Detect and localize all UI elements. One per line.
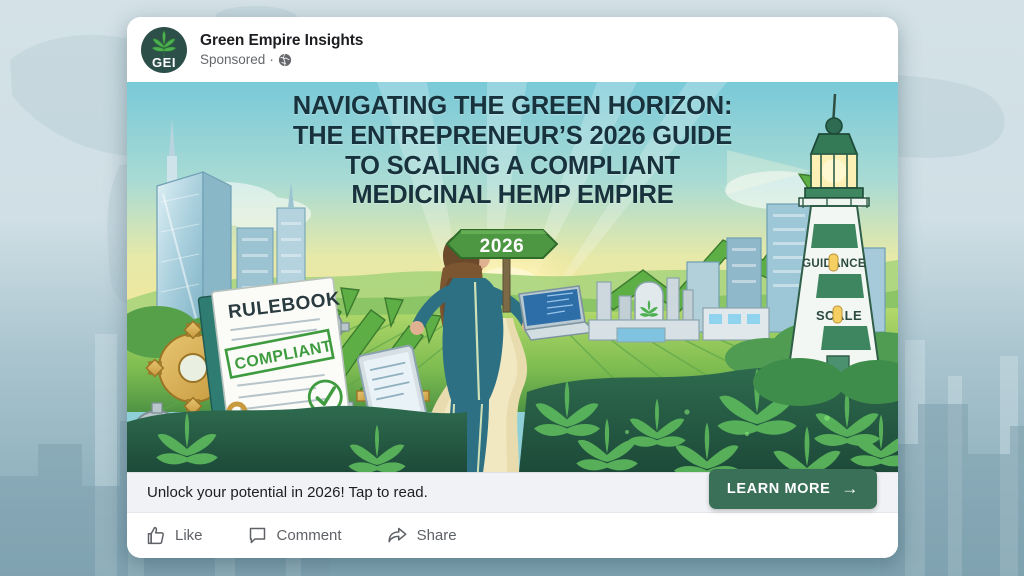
- cta-label: LEARN MORE: [727, 481, 830, 497]
- ad-headline: NAVIGATING THE GREEN HORIZON: THE ENTREP…: [127, 92, 898, 211]
- comment-label: Comment: [277, 527, 342, 544]
- speech-bubble-icon: [247, 525, 268, 546]
- sponsored-ad-card: GEI Green Empire Insights Sponsored ·: [127, 17, 898, 558]
- avatar[interactable]: GEI: [141, 27, 187, 73]
- header-text-block: Green Empire Insights Sponsored ·: [200, 32, 363, 67]
- headline-line-3: TO SCALING A COMPLIANT: [127, 152, 898, 182]
- headline-line-2: THE ENTREPRENEUR’S 2026 GUIDE: [127, 122, 898, 152]
- avatar-initials: GEI: [141, 56, 187, 69]
- comment-button[interactable]: Comment: [247, 525, 342, 546]
- sponsored-label[interactable]: Sponsored: [200, 52, 265, 67]
- sponsored-row: Sponsored ·: [200, 52, 363, 67]
- like-label: Like: [175, 527, 203, 544]
- caption-text: Unlock your potential in 2026! Tap to re…: [147, 484, 428, 501]
- svg-text:2026: 2026: [480, 236, 525, 257]
- like-button[interactable]: Like: [145, 525, 203, 546]
- share-label: Share: [417, 527, 457, 544]
- share-arrow-icon: [386, 525, 408, 546]
- globe-icon: [278, 53, 292, 67]
- headline-line-1: NAVIGATING THE GREEN HORIZON:: [127, 92, 898, 122]
- learn-more-button[interactable]: LEARN MORE →: [709, 469, 877, 509]
- ad-creative-image[interactable]: RULEBOOK COMPLIANT: [127, 82, 898, 472]
- separator-dot: ·: [269, 52, 274, 67]
- page-name[interactable]: Green Empire Insights: [200, 32, 363, 50]
- share-button[interactable]: Share: [386, 525, 457, 546]
- thumbs-up-icon: [145, 525, 166, 546]
- arrow-right-icon: →: [841, 479, 859, 499]
- hemp-leaf-icon: [149, 31, 179, 58]
- ad-header: GEI Green Empire Insights Sponsored ·: [127, 17, 898, 82]
- headline-line-4: MEDICINAL HEMP EMPIRE: [127, 181, 898, 211]
- ad-action-bar: Like Comment Share: [127, 512, 898, 558]
